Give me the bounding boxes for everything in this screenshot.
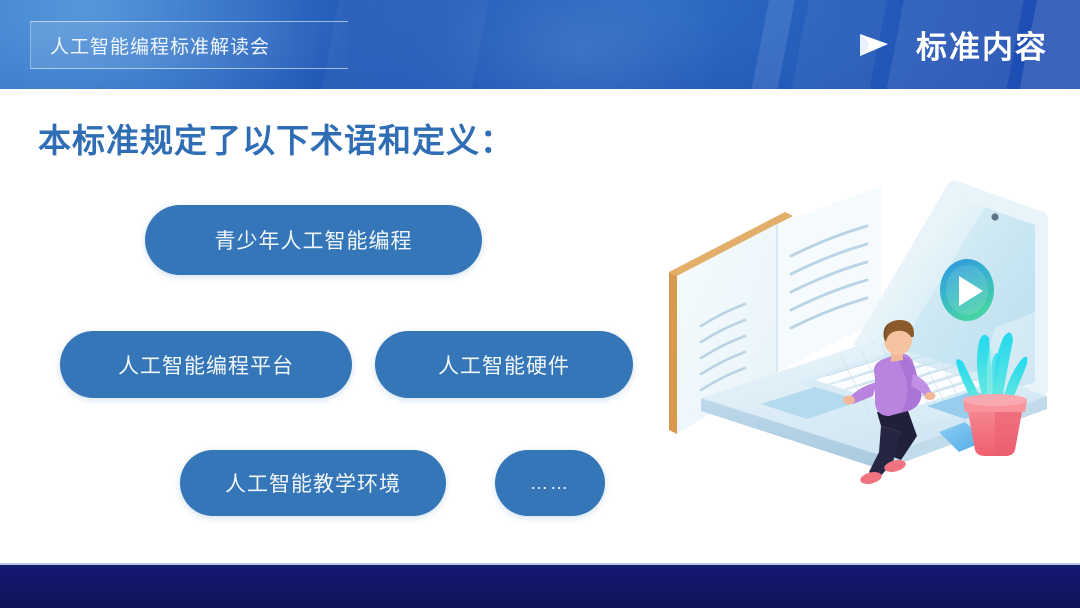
- event-title-box: 人工智能编程标准解读会: [30, 21, 348, 69]
- play-button-graphic: [940, 259, 994, 321]
- isometric-laptop-book-person-illustration: [655, 160, 1055, 520]
- footer-bar: [0, 565, 1080, 608]
- header-sheen: [430, 0, 730, 89]
- slide-header: 人工智能编程标准解读会 标准内容: [0, 0, 1080, 89]
- term-pill-ai-programming-platform[interactable]: 人工智能编程平台: [60, 331, 352, 398]
- term-pill-ai-hardware[interactable]: 人工智能硬件: [375, 331, 633, 398]
- term-pill-ai-teaching-environment[interactable]: 人工智能教学环境: [180, 450, 446, 516]
- header-section-group: 标准内容: [856, 0, 1048, 89]
- slide: 人工智能编程标准解读会 标准内容 本标准规定了以下术语和定义： 青少年人工智能编…: [0, 0, 1080, 608]
- page-title: 本标准规定了以下术语和定义：: [38, 114, 514, 162]
- header-accent-panel: [749, 0, 798, 89]
- event-title: 人工智能编程标准解读会: [31, 32, 270, 59]
- arrow-chevron-icon: [856, 29, 892, 61]
- section-title: 标准内容: [916, 22, 1048, 67]
- term-pill-youth-ai-programming[interactable]: 青少年人工智能编程: [145, 205, 482, 275]
- term-pill-more[interactable]: ……: [495, 450, 605, 516]
